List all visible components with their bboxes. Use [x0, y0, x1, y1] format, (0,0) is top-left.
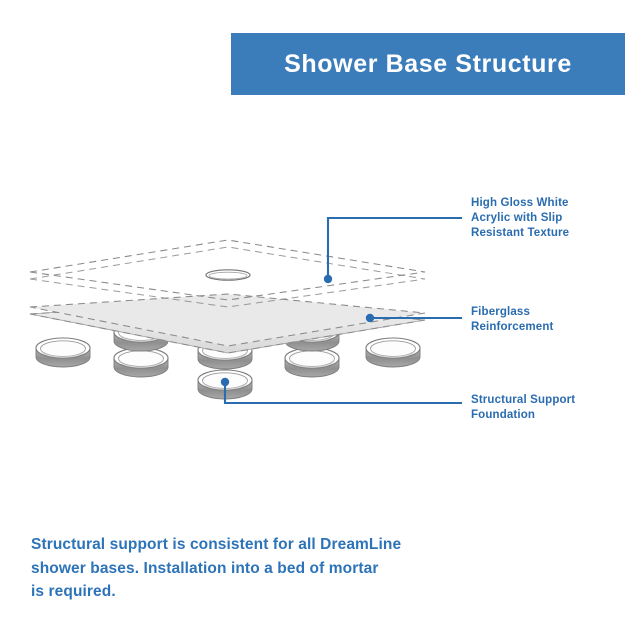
support-ring [285, 348, 339, 377]
leader-line-foundation [225, 382, 462, 403]
leader-dot-foundation [221, 378, 229, 386]
drain-opening [206, 270, 250, 280]
support-ring [114, 348, 168, 377]
fiberglass-layer [30, 294, 425, 353]
leader-dot-fiberglass [366, 314, 374, 322]
page-root: Shower Base Structure [0, 0, 625, 625]
callout-label-fiberglass: Fiberglass Reinforcement [471, 305, 553, 335]
support-ring [366, 338, 420, 367]
footer-caption: Structural support is consistent for all… [31, 533, 451, 604]
leader-dot-acrylic [324, 275, 332, 283]
callout-label-foundation: Structural Support Foundation [471, 393, 575, 423]
callout-label-acrylic: High Gloss White Acrylic with Slip Resis… [471, 196, 569, 242]
support-ring [36, 338, 90, 367]
leader-line-acrylic [328, 218, 462, 279]
